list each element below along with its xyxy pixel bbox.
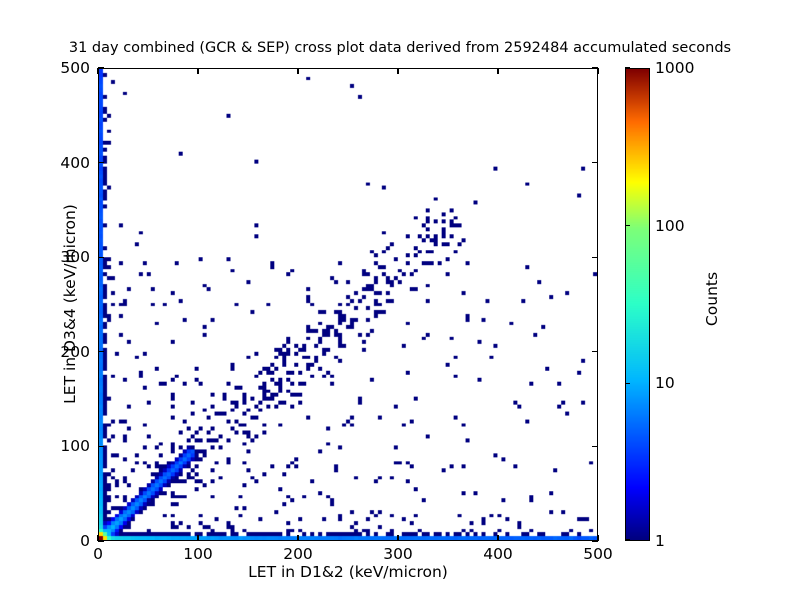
y-tick-0 — [98, 540, 104, 541]
y-tick-right-100 — [592, 446, 598, 447]
y-tick-right-300 — [592, 257, 598, 258]
y-tick-400 — [98, 162, 104, 163]
y-tick-500 — [98, 67, 104, 68]
x-tick-top-0 — [97, 68, 98, 74]
x-tick-label-100: 100 — [183, 545, 213, 563]
x-tick-top-300 — [397, 68, 398, 74]
colorbar-tick-label-1: 1 — [655, 532, 665, 550]
colorbar-label: Counts — [703, 199, 721, 399]
y-tick-right-500 — [592, 67, 598, 68]
colorbar-tick-1000 — [625, 67, 630, 68]
colorbar-tick-label-10: 10 — [655, 374, 675, 392]
title-line-1: 31 day combined (GCR & SEP) cross plot d… — [0, 40, 800, 57]
y-tick-100 — [98, 446, 104, 447]
y-tick-right-200 — [592, 351, 598, 352]
y-tick-right-0 — [592, 540, 598, 541]
x-tick-300 — [397, 535, 398, 541]
x-tick-label-0: 0 — [93, 545, 103, 563]
x-tick-400 — [497, 535, 498, 541]
x-tick-200 — [297, 535, 298, 541]
x-tick-label-200: 200 — [283, 545, 313, 563]
x-tick-top-100 — [197, 68, 198, 74]
y-tick-300 — [98, 257, 104, 258]
figure-root: 31 day combined (GCR & SEP) cross plot d… — [0, 0, 800, 600]
y-axis-label: LET in D3&4 (keV/micron) — [61, 104, 79, 504]
colorbar-tick-1 — [625, 539, 630, 540]
scatter-heatmap-canvas — [99, 69, 597, 540]
x-tick-top-500 — [597, 68, 598, 74]
y-tick-right-400 — [592, 162, 598, 163]
x-tick-label-500: 500 — [583, 545, 613, 563]
x-axis-label: LET in D1&2 (keV/micron) — [98, 563, 598, 581]
plot-area — [98, 68, 598, 541]
colorbar-gradient — [626, 69, 649, 540]
x-tick-top-200 — [297, 68, 298, 74]
colorbar-tick-10 — [625, 383, 630, 384]
colorbar-tick-label-100: 100 — [655, 217, 685, 235]
y-tick-200 — [98, 351, 104, 352]
colorbar-tick-100 — [625, 225, 630, 226]
x-tick-top-400 — [497, 68, 498, 74]
colorbar — [625, 68, 650, 541]
x-tick-label-400: 400 — [483, 545, 513, 563]
x-tick-label-300: 300 — [383, 545, 413, 563]
colorbar-tick-label-1000: 1000 — [655, 59, 694, 77]
y-tick-label-0: 0 — [36, 532, 90, 550]
y-tick-label-500: 500 — [36, 59, 90, 77]
x-tick-100 — [197, 535, 198, 541]
